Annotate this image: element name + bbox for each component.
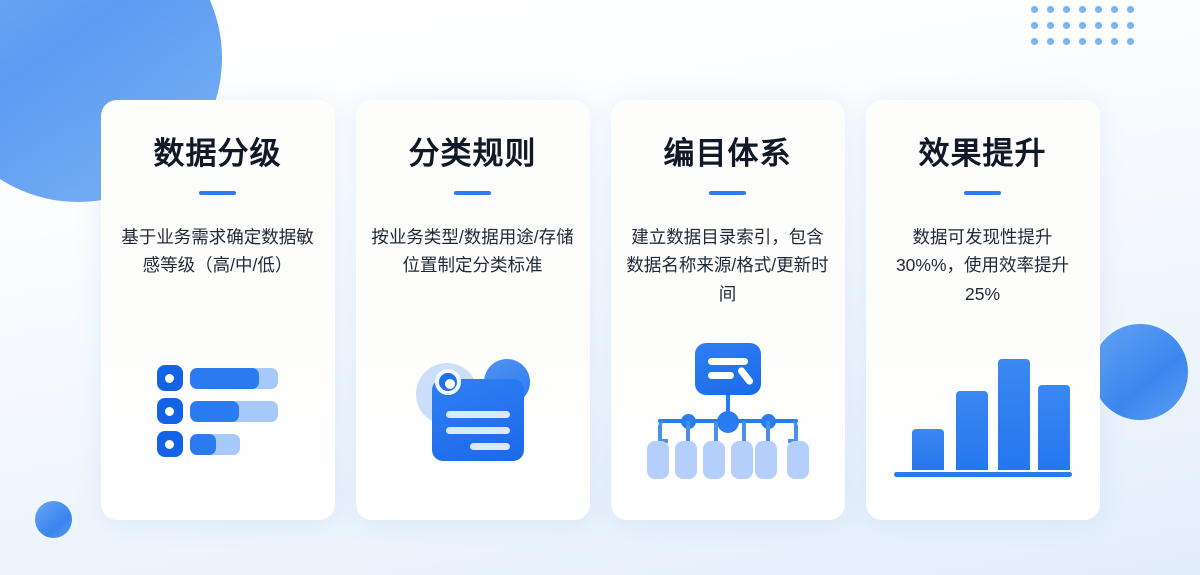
tree-connector: [714, 421, 718, 443]
tree-connector: [766, 421, 770, 443]
tree-leaf-node: [755, 441, 777, 479]
tree-leaf-node: [703, 441, 725, 479]
card-title: 效果提升: [919, 138, 1047, 169]
tree-leaf-node: [647, 441, 669, 479]
card-title: 编目体系: [664, 138, 792, 169]
title-underline: [199, 191, 236, 195]
rank-marker: [157, 431, 183, 457]
card-title: 分类规则: [409, 138, 537, 169]
tree-connector: [658, 421, 668, 443]
chart-bar: [912, 429, 944, 470]
card-icon-slot: [356, 336, 590, 486]
document-text-line: [446, 427, 510, 434]
tree-leaf-node: [787, 441, 809, 479]
tree-connector: [742, 421, 746, 443]
tree-root-node: [695, 343, 761, 395]
title-underline: [964, 191, 1001, 195]
ranked-bars-icon: [157, 365, 279, 457]
card-row: 数据分级 基于业务需求确定数据敏感等级（高/中/低）: [0, 0, 1200, 575]
card-icon-slot: [866, 336, 1100, 486]
card-description: 按业务类型/数据用途/存储位置制定分类标准: [370, 223, 576, 280]
infographic-canvas: 数据分级 基于业务需求确定数据敏感等级（高/中/低）: [0, 0, 1200, 575]
tree-leaf-node: [675, 441, 697, 479]
card-icon-slot: [101, 336, 335, 486]
card-description: 基于业务需求确定数据敏感等级（高/中/低）: [115, 223, 321, 280]
rank-bar-3: [190, 434, 240, 455]
rank-marker: [157, 365, 183, 391]
card-classification-rules[interactable]: 分类规则 按业务类型/数据用途/存储位置制定分类标准: [356, 100, 590, 520]
rank-bar-1: [190, 368, 278, 389]
tree-hub-dot: [717, 411, 739, 433]
card-data-grading[interactable]: 数据分级 基于业务需求确定数据敏感等级（高/中/低）: [101, 100, 335, 520]
tree-leaf-node: [731, 441, 753, 479]
card-description: 数据可发现性提升30%%，使用效率提升25%: [880, 223, 1086, 308]
card-effect-improvement[interactable]: 效果提升 数据可发现性提升30%%，使用效率提升25%: [866, 100, 1100, 520]
classified-document-icon: [414, 357, 532, 465]
rank-bar-2: [190, 401, 278, 422]
chart-baseline: [894, 472, 1072, 477]
chart-bar: [956, 391, 988, 470]
document-pin-icon: [435, 369, 461, 395]
card-icon-slot: [611, 336, 845, 486]
card-catalog-system[interactable]: 编目体系 建立数据目录索引，包含数据名称来源/格式/更新时间: [611, 100, 845, 520]
card-title: 数据分级: [154, 138, 282, 169]
chart-bar: [1038, 385, 1070, 470]
rank-marker: [157, 398, 183, 424]
catalog-tree-icon: [640, 343, 816, 479]
card-description: 建立数据目录索引，包含数据名称来源/格式/更新时间: [625, 223, 831, 308]
document-text-line: [446, 411, 510, 418]
growth-chart-icon: [894, 345, 1072, 477]
document-text-line: [470, 443, 510, 450]
title-underline: [709, 191, 746, 195]
tree-connector: [686, 421, 690, 443]
title-underline: [454, 191, 491, 195]
tree-connector: [788, 421, 798, 443]
chart-bar: [998, 359, 1030, 470]
